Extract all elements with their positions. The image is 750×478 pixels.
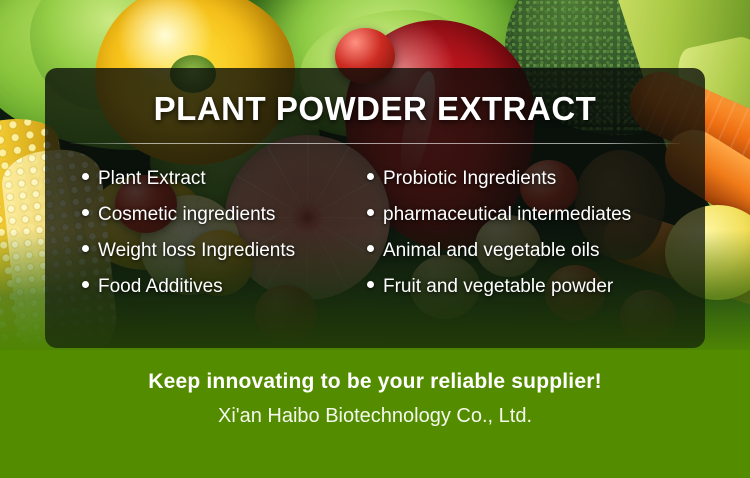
list-item: Cosmetic ingredients (82, 204, 360, 226)
bullet-icon (367, 173, 374, 180)
bullet-icon (367, 209, 374, 216)
list-item: Weight loss Ingredients (82, 240, 360, 262)
bullet-icon (367, 281, 374, 288)
banner-content: PLANT POWDER EXTRACT Plant Extract Cosme… (45, 68, 705, 348)
list-item: Plant Extract (82, 168, 360, 190)
list-item: pharmaceutical intermediates (367, 204, 697, 226)
list-item-label: Probiotic Ingredients (383, 168, 556, 190)
list-item-label: Food Additives (98, 276, 223, 298)
list-item: Fruit and vegetable powder (367, 276, 697, 298)
list-item-label: Plant Extract (98, 168, 206, 190)
list-item-label: pharmaceutical intermediates (383, 204, 631, 226)
list-item: Food Additives (82, 276, 360, 298)
bullet-icon (82, 173, 89, 180)
page-title: PLANT POWDER EXTRACT (45, 90, 705, 128)
list-item: Animal and vegetable oils (367, 240, 697, 262)
product-banner: PLANT POWDER EXTRACT Plant Extract Cosme… (0, 0, 750, 478)
bullet-icon (367, 245, 374, 252)
list-item: Probiotic Ingredients (367, 168, 697, 190)
list-item-label: Cosmetic ingredients (98, 204, 275, 226)
product-category-lists: Plant Extract Cosmetic ingredients Weigh… (45, 168, 705, 298)
product-list-left: Plant Extract Cosmetic ingredients Weigh… (45, 168, 360, 298)
list-item-label: Weight loss Ingredients (98, 240, 295, 262)
list-item-label: Animal and vegetable oils (383, 240, 600, 262)
bullet-icon (82, 281, 89, 288)
list-item-label: Fruit and vegetable powder (383, 276, 613, 298)
product-list-right: Probiotic Ingredients pharmaceutical int… (360, 168, 697, 298)
bullet-icon (82, 209, 89, 216)
title-divider (70, 143, 680, 144)
company-name: Xi'an Haibo Biotechnology Co., Ltd. (0, 405, 750, 428)
footer-band: Keep innovating to be your reliable supp… (0, 350, 750, 478)
bullet-icon (82, 245, 89, 252)
footer-tagline: Keep innovating to be your reliable supp… (0, 370, 750, 394)
